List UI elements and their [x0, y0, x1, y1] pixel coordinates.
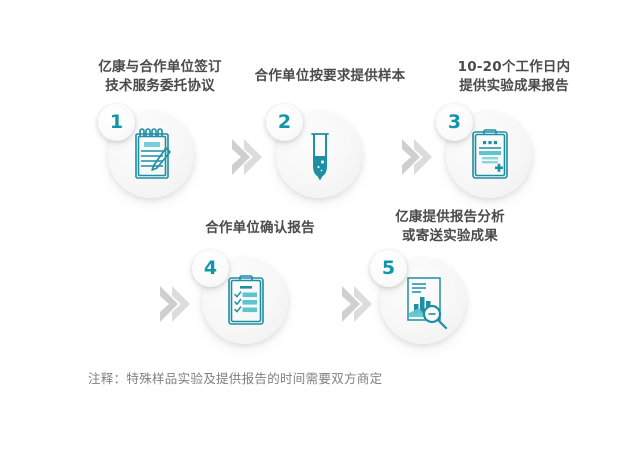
arrow-1-to-2 — [228, 137, 262, 177]
arrow-4-to-5 — [338, 284, 372, 324]
step-2[interactable]: 2 — [266, 104, 362, 200]
step-5-number: 5 — [382, 259, 395, 278]
medical-report-clipboard-icon — [462, 126, 518, 184]
step-3[interactable]: 3 — [436, 104, 532, 200]
checklist-clipboard-icon — [218, 272, 274, 330]
arrow-3-to-4 — [156, 284, 190, 324]
chevron-right-icon — [228, 137, 262, 177]
step-2-number: 2 — [278, 113, 291, 132]
step-4[interactable]: 4 — [192, 250, 288, 346]
step-3-number-badge: 3 — [436, 104, 473, 141]
step-2-number-badge: 2 — [266, 104, 303, 141]
footnote-text: 注释：特殊样品实验及提供报告的时间需要双方商定 — [88, 370, 382, 388]
step-4-caption: 合作单位确认报告 — [172, 219, 348, 238]
notepad-pen-icon — [124, 126, 180, 184]
step-4-number: 4 — [204, 259, 217, 278]
test-tube-icon — [292, 126, 348, 184]
chevron-right-icon — [156, 284, 190, 324]
flowchart-canvas: 亿康与合作单位签订 技术服务委托协议 合作单位按要求提供样本 10-20个工作日… — [0, 0, 640, 459]
step-1[interactable]: 1 — [98, 104, 194, 200]
step-5-number-badge: 5 — [370, 250, 407, 287]
chevron-right-icon — [398, 137, 432, 177]
step-5-caption: 亿康提供报告分析 或寄送实验成果 — [362, 208, 538, 246]
step-1-caption: 亿康与合作单位签订 技术服务委托协议 — [78, 58, 242, 96]
step-1-number-badge: 1 — [98, 104, 135, 141]
step-1-number: 1 — [110, 113, 123, 132]
step-5[interactable]: 5 — [370, 250, 466, 346]
arrow-2-to-3 — [398, 137, 432, 177]
chart-magnifier-icon — [396, 272, 452, 330]
step-3-caption: 10-20个工作日内 提供实验成果报告 — [428, 58, 600, 96]
step-3-number: 3 — [448, 113, 461, 132]
step-2-caption: 合作单位按要求提供样本 — [240, 67, 420, 86]
chevron-right-icon — [338, 284, 372, 324]
step-4-number-badge: 4 — [192, 250, 229, 287]
